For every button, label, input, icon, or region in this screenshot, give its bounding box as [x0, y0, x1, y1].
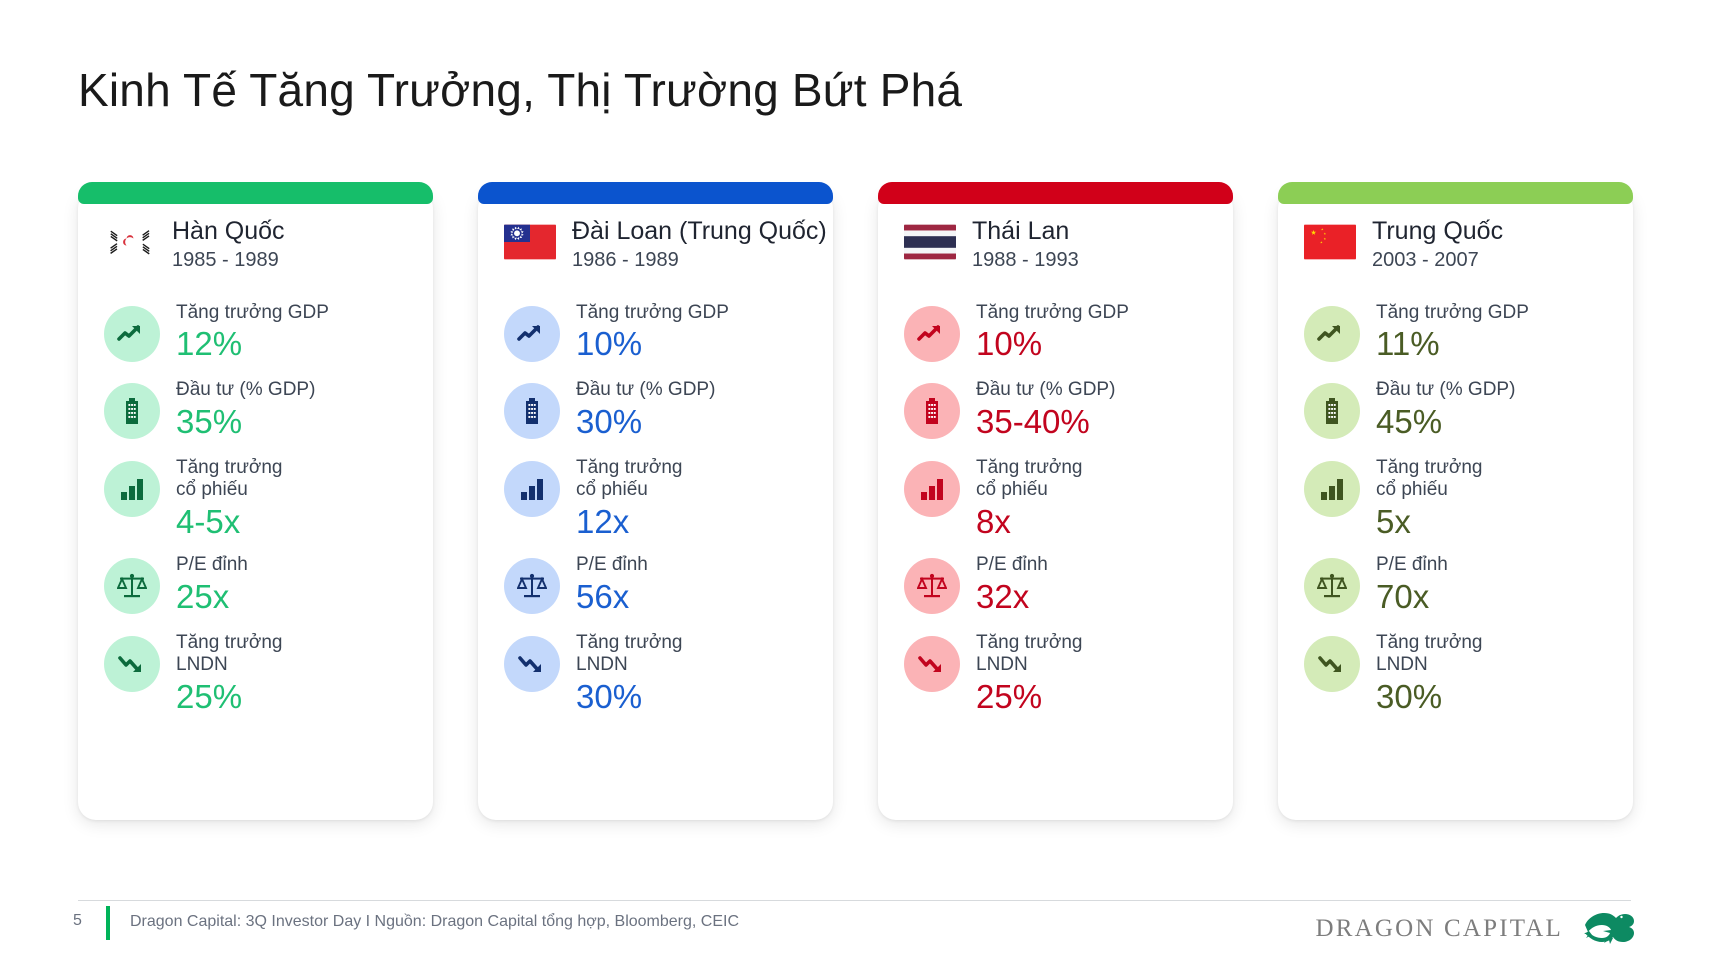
metric-label: Đầu tư (% GDP): [176, 379, 315, 401]
metric-label: Tăng trưởng cổ phiếu: [576, 457, 683, 502]
footer-accent-bar: [106, 906, 110, 940]
card-accent-bar: [78, 182, 433, 204]
trend-down-icon: [504, 636, 560, 692]
metric-label: P/E đỉnh: [576, 554, 648, 576]
metric-label: Tăng trưởng GDP: [176, 302, 329, 324]
metric-value: 30%: [576, 403, 715, 441]
metric-label: Tăng trưởng GDP: [976, 302, 1129, 324]
scales-icon: [904, 558, 960, 614]
trend-down-icon: [104, 636, 160, 692]
slide: Kinh Tế Tăng Trưởng, Thị Trường Bứt Phá: [0, 0, 1709, 967]
card-accent-bar: [878, 182, 1233, 204]
country-name: Đài Loan (Trung Quốc): [572, 218, 827, 245]
metric-value: 12%: [176, 325, 329, 363]
country-card: Đài Loan (Trung Quốc) 1986 - 1989 Tăng t…: [478, 190, 833, 820]
dragon-icon: [1577, 905, 1639, 952]
bar-chart-icon: [904, 461, 960, 517]
metric-label: Tăng trưởng cổ phiếu: [1376, 457, 1483, 502]
country-card: Trung Quốc 2003 - 2007 Tăng trưởng GDP 1…: [1278, 190, 1633, 820]
metric-label: Tăng trưởng LNDN: [976, 632, 1083, 677]
country-period: 1985 - 1989: [172, 247, 285, 274]
metric-row: Đầu tư (% GDP) 35%: [104, 377, 407, 440]
metric-row: Tăng trưởng LNDN 30%: [504, 630, 807, 716]
metric-label: Tăng trưởng cổ phiếu: [176, 457, 283, 502]
metric-row: Tăng trưởng cổ phiếu 8x: [904, 455, 1207, 541]
country-card-list: Hàn Quốc 1985 - 1989 Tăng trưởng GDP 12%…: [78, 190, 1638, 820]
metric-value: 45%: [1376, 403, 1515, 441]
trend-down-icon: [904, 636, 960, 692]
country-period: 1986 - 1989: [572, 247, 827, 274]
metric-row: P/E đỉnh 25x: [104, 552, 407, 615]
metric-label: Tăng trưởng LNDN: [576, 632, 683, 677]
metric-row: Tăng trưởng cổ phiếu 5x: [1304, 455, 1607, 541]
metric-value: 30%: [576, 678, 683, 716]
metric-row: P/E đỉnh 32x: [904, 552, 1207, 615]
footer-source-text: Dragon Capital: 3Q Investor Day I Nguồn:…: [130, 913, 739, 931]
flag-china: [1304, 224, 1356, 260]
trend-up-icon: [104, 306, 160, 362]
country-name: Hàn Quốc: [172, 218, 285, 245]
metric-row: Đầu tư (% GDP) 30%: [504, 377, 807, 440]
page-title: Kinh Tế Tăng Trưởng, Thị Trường Bứt Phá: [78, 63, 962, 117]
metric-label: P/E đỉnh: [976, 554, 1048, 576]
bar-chart-icon: [104, 461, 160, 517]
metric-value: 10%: [576, 325, 729, 363]
card-accent-bar: [1278, 182, 1633, 204]
scales-icon: [104, 558, 160, 614]
metric-label: Đầu tư (% GDP): [1376, 379, 1515, 401]
metric-value: 12x: [576, 503, 683, 541]
metric-row: Tăng trưởng GDP 11%: [1304, 300, 1607, 363]
metric-value: 70x: [1376, 578, 1448, 616]
metric-label: Đầu tư (% GDP): [576, 379, 715, 401]
card-accent-bar: [478, 182, 833, 204]
country-card: Hàn Quốc 1985 - 1989 Tăng trưởng GDP 12%…: [78, 190, 433, 820]
metric-value: 30%: [1376, 678, 1483, 716]
flag-thailand: [904, 224, 956, 260]
metric-value: 25%: [176, 678, 283, 716]
metric-label: Tăng trưởng cổ phiếu: [976, 457, 1083, 502]
metric-row: Tăng trưởng LNDN 25%: [904, 630, 1207, 716]
scales-icon: [1304, 558, 1360, 614]
metric-value: 32x: [976, 578, 1048, 616]
logo-wordmark: DRAGON CAPITAL: [1315, 915, 1563, 943]
metric-value: 8x: [976, 503, 1083, 541]
country-name: Trung Quốc: [1372, 218, 1503, 245]
country-name: Thái Lan: [972, 218, 1079, 245]
metric-label: P/E đỉnh: [176, 554, 248, 576]
metric-row: Tăng trưởng cổ phiếu 12x: [504, 455, 807, 541]
metric-value: 10%: [976, 325, 1129, 363]
building-icon: [1304, 383, 1360, 439]
building-icon: [504, 383, 560, 439]
trend-up-icon: [904, 306, 960, 362]
metric-value: 25%: [976, 678, 1083, 716]
country-period: 2003 - 2007: [1372, 247, 1503, 274]
page-number: 5: [73, 912, 82, 930]
flag-south-korea: [104, 224, 156, 260]
building-icon: [904, 383, 960, 439]
trend-up-icon: [504, 306, 560, 362]
flag-taiwan: [504, 224, 556, 260]
metric-row: Đầu tư (% GDP) 45%: [1304, 377, 1607, 440]
metric-row: Tăng trưởng LNDN 25%: [104, 630, 407, 716]
country-card: Thái Lan 1988 - 1993 Tăng trưởng GDP 10%…: [878, 190, 1233, 820]
metric-label: Tăng trưởng GDP: [576, 302, 729, 324]
metric-row: P/E đỉnh 56x: [504, 552, 807, 615]
metric-row: Tăng trưởng GDP 10%: [904, 300, 1207, 363]
metric-value: 56x: [576, 578, 648, 616]
building-icon: [104, 383, 160, 439]
bar-chart-icon: [1304, 461, 1360, 517]
metric-value: 25x: [176, 578, 248, 616]
metric-label: Đầu tư (% GDP): [976, 379, 1115, 401]
metric-label: P/E đỉnh: [1376, 554, 1448, 576]
scales-icon: [504, 558, 560, 614]
metric-row: Tăng trưởng cổ phiếu 4-5x: [104, 455, 407, 541]
dragon-capital-logo: DRAGON CAPITAL: [1315, 905, 1639, 952]
metric-label: Tăng trưởng LNDN: [1376, 632, 1483, 677]
metric-value: 35%: [176, 403, 315, 441]
metric-row: Tăng trưởng GDP 12%: [104, 300, 407, 363]
trend-up-icon: [1304, 306, 1360, 362]
metric-label: Tăng trưởng LNDN: [176, 632, 283, 677]
metric-value: 5x: [1376, 503, 1483, 541]
metric-row: P/E đỉnh 70x: [1304, 552, 1607, 615]
metric-value: 11%: [1376, 325, 1529, 363]
metric-row: Tăng trưởng GDP 10%: [504, 300, 807, 363]
metric-row: Đầu tư (% GDP) 35-40%: [904, 377, 1207, 440]
metric-value: 35-40%: [976, 403, 1115, 441]
trend-down-icon: [1304, 636, 1360, 692]
bar-chart-icon: [504, 461, 560, 517]
footer-divider: [78, 900, 1631, 901]
metric-row: Tăng trưởng LNDN 30%: [1304, 630, 1607, 716]
country-period: 1988 - 1993: [972, 247, 1079, 274]
metric-label: Tăng trưởng GDP: [1376, 302, 1529, 324]
metric-value: 4-5x: [176, 503, 283, 541]
